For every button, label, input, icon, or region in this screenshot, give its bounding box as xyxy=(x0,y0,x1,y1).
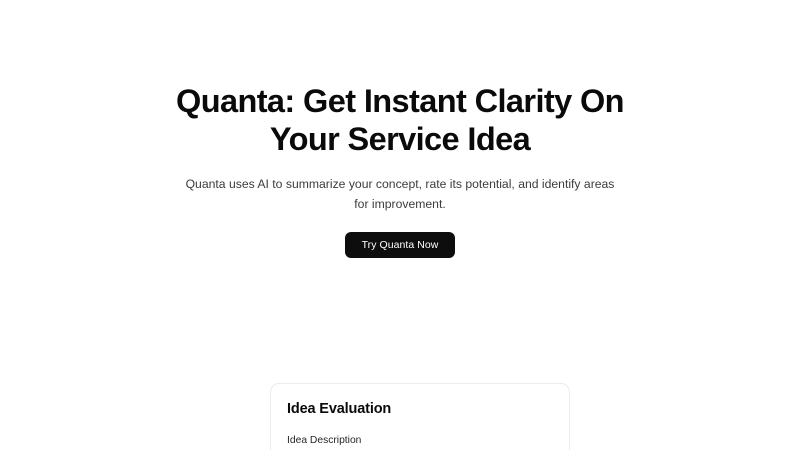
page-title: Quanta: Get Instant Clarity On Your Serv… xyxy=(165,82,635,158)
idea-description-label: Idea Description xyxy=(287,434,553,448)
hero-subtitle: Quanta uses AI to summarize your concept… xyxy=(184,175,616,215)
landing-page: Quanta: Get Instant Clarity On Your Serv… xyxy=(0,0,800,450)
idea-evaluation-card: Idea Evaluation Idea Description xyxy=(270,383,570,450)
idea-description-field-group: Idea Description xyxy=(287,434,553,450)
hero-section: Quanta: Get Instant Clarity On Your Serv… xyxy=(0,0,800,258)
try-quanta-now-button[interactable]: Try Quanta Now xyxy=(345,232,456,258)
idea-evaluation-title: Idea Evaluation xyxy=(287,401,553,418)
hero-cta-container: Try Quanta Now xyxy=(0,232,800,258)
